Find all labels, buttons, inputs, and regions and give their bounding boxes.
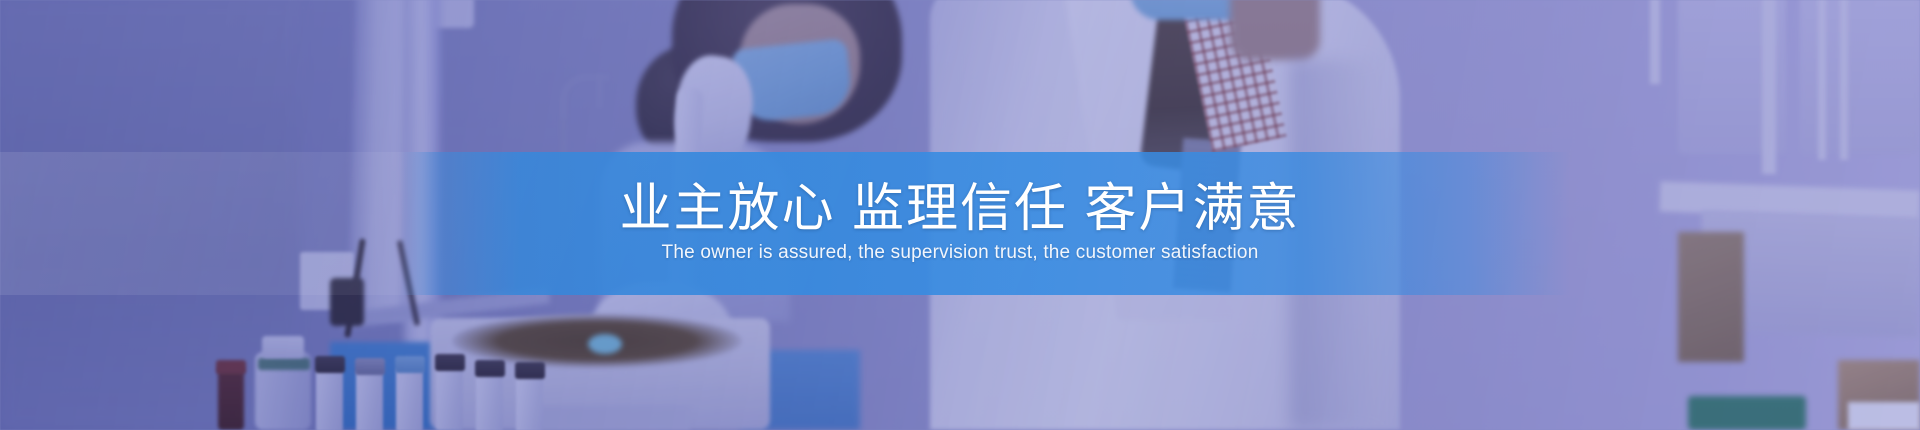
banner-headline: 业主放心 监理信任 客户满意 xyxy=(620,182,1301,237)
banner-subline: The owner is assured, the supervision tr… xyxy=(662,242,1259,265)
caption-text-block: 业主放心 监理信任 客户满意 The owner is assured, the… xyxy=(0,152,1920,295)
hero-banner: 业主放心 监理信任 客户满意 The owner is assured, the… xyxy=(0,0,1920,430)
